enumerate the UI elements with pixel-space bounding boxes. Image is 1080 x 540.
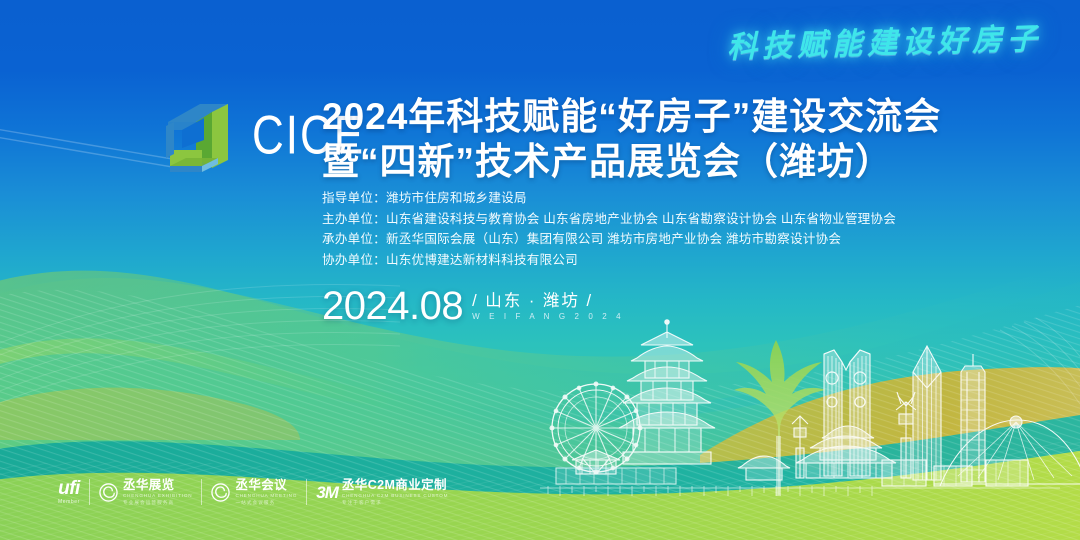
organizer-line: 协办单位：山东优博建达新材料科技有限公司 bbox=[322, 250, 896, 271]
divider bbox=[89, 479, 90, 505]
logo-name-cn: 丞华C2M商业定制 bbox=[342, 479, 448, 492]
page-title-line2: 暨“四新”技术产品展览会（潍坊） bbox=[322, 139, 941, 184]
organizer-line: 主办单位：山东省建设科技与教育协会 山东省房地产业协会 山东省勘察设计协会 山东… bbox=[322, 209, 896, 230]
wheel-base-pavilion bbox=[572, 450, 620, 474]
c2m-monogram: 3M bbox=[316, 484, 338, 501]
divider bbox=[201, 479, 202, 505]
pagoda-tower bbox=[619, 320, 715, 464]
spiral-icon bbox=[99, 483, 118, 502]
arch-bridge bbox=[934, 416, 1080, 486]
logo-tagline: 专业展会运营服务商 bbox=[123, 499, 193, 506]
divider bbox=[306, 479, 307, 505]
skyline-outlines bbox=[540, 320, 1080, 496]
logo-name-en: CHENGHUA C2M BUSINESS CUSTOM bbox=[342, 492, 448, 499]
logo-name-en: CHENGHUA MEETING bbox=[235, 492, 297, 499]
traditional-roof-complex bbox=[738, 426, 896, 480]
event-place: / 山东 · 潍坊 / W E I F A N G 2 0 2 4 bbox=[472, 292, 624, 326]
ground-hatching bbox=[540, 486, 1060, 496]
kapok-tree bbox=[734, 340, 826, 496]
organizer-line: 承办单位：新丞华国际会展（山东）集团有限公司 潍坊市房地产业协会 潍坊市勘察设计… bbox=[322, 229, 896, 250]
twin-towers bbox=[824, 350, 870, 476]
ferris-wheel bbox=[550, 382, 642, 474]
ribbed-tower bbox=[961, 354, 985, 482]
left-low-buildings bbox=[556, 468, 676, 484]
poster-canvas: 科技赋能建设好房子 bbox=[0, 0, 1080, 540]
background-waves bbox=[0, 0, 1080, 540]
chenghua-exhibition-logo: 丞华展览 CHENGHUA EXHIBITION 专业展会运营服务商 bbox=[99, 479, 193, 506]
ufi-wordmark: ufi bbox=[58, 479, 80, 498]
ufi-member-label: Member bbox=[58, 498, 80, 506]
radio-mast-small bbox=[792, 416, 808, 478]
radio-mast bbox=[896, 392, 916, 478]
title-block: 2024年科技赋能“好房子”建设交流会 暨“四新”技术产品展览会（潍坊） bbox=[322, 94, 941, 184]
logo-tagline: 一站式会议服务 bbox=[235, 499, 297, 506]
cice-isometric-mark bbox=[160, 96, 238, 176]
organizer-list: 指导单位：潍坊市住房和城乡建设局 主办单位：山东省建设科技与教育协会 山东省房地… bbox=[322, 188, 896, 270]
logo-name-en: CHENGHUA EXHIBITION bbox=[123, 492, 193, 499]
logo-name-cn: 丞华会议 bbox=[235, 479, 297, 492]
chenghua-meeting-logo: 丞华会议 CHENGHUA MEETING 一站式会议服务 bbox=[211, 479, 297, 506]
logo-tagline: 专注于客户需求 bbox=[342, 499, 448, 506]
calligraphy-slogan: 科技赋能建设好房子 bbox=[726, 14, 1042, 67]
event-date: 2024.08 bbox=[322, 286, 463, 326]
spiral-icon bbox=[211, 483, 230, 502]
ufi-logo: ufi Member bbox=[58, 479, 80, 506]
sponsor-logo-bar: ufi Member 丞华展览 CHENGHUA EXHIBITION 专业展会… bbox=[58, 472, 448, 512]
place-english: W E I F A N G 2 0 2 4 bbox=[472, 311, 624, 323]
organizer-line: 指导单位：潍坊市住房和城乡建设局 bbox=[322, 188, 896, 209]
chenghua-c2m-logo: 3M 丞华C2M商业定制 CHENGHUA C2M BUSINESS CUSTO… bbox=[316, 479, 448, 506]
crystal-tower bbox=[913, 346, 941, 480]
logo-name-cn: 丞华展览 bbox=[123, 479, 193, 492]
date-place-block: 2024.08 / 山东 · 潍坊 / W E I F A N G 2 0 2 … bbox=[322, 286, 624, 326]
place-chinese: / 山东 · 潍坊 / bbox=[472, 292, 624, 311]
page-title-line1: 2024年科技赋能“好房子”建设交流会 bbox=[322, 94, 941, 139]
lowrise-blocks bbox=[882, 460, 1028, 486]
yellow-accent-band bbox=[700, 367, 1080, 470]
